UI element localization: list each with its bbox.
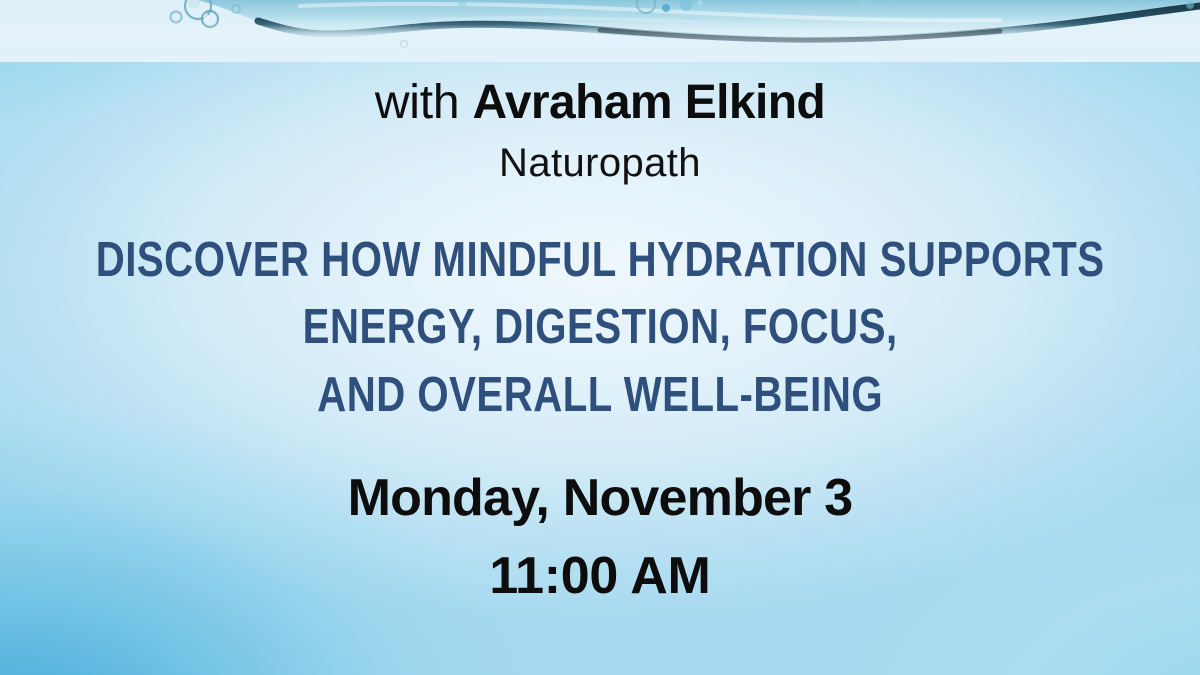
presenter-role: Naturopath xyxy=(499,143,701,183)
headline-line-2: ENERGY, DIGESTION, FOCUS, xyxy=(96,294,1105,362)
headline: DISCOVER HOW MINDFUL HYDRATION SUPPORTS … xyxy=(96,227,1105,430)
event-date: Monday, November 3 xyxy=(348,469,853,527)
event-time: 11:00 AM xyxy=(348,550,853,602)
presenter-line: with Avraham Elkind xyxy=(375,78,825,129)
presenter-name: Avraham Elkind xyxy=(473,76,826,129)
event-datetime: Monday, November 3 11:00 AM xyxy=(348,472,853,602)
poster-canvas: with Avraham Elkind Naturopath DISCOVER … xyxy=(0,0,1200,675)
presenter-prefix: with xyxy=(375,76,473,129)
headline-line-3: AND OVERALL WELL-BEING xyxy=(96,362,1105,430)
headline-line-1: DISCOVER HOW MINDFUL HYDRATION SUPPORTS xyxy=(96,227,1105,295)
poster-content: with Avraham Elkind Naturopath DISCOVER … xyxy=(0,0,1200,675)
